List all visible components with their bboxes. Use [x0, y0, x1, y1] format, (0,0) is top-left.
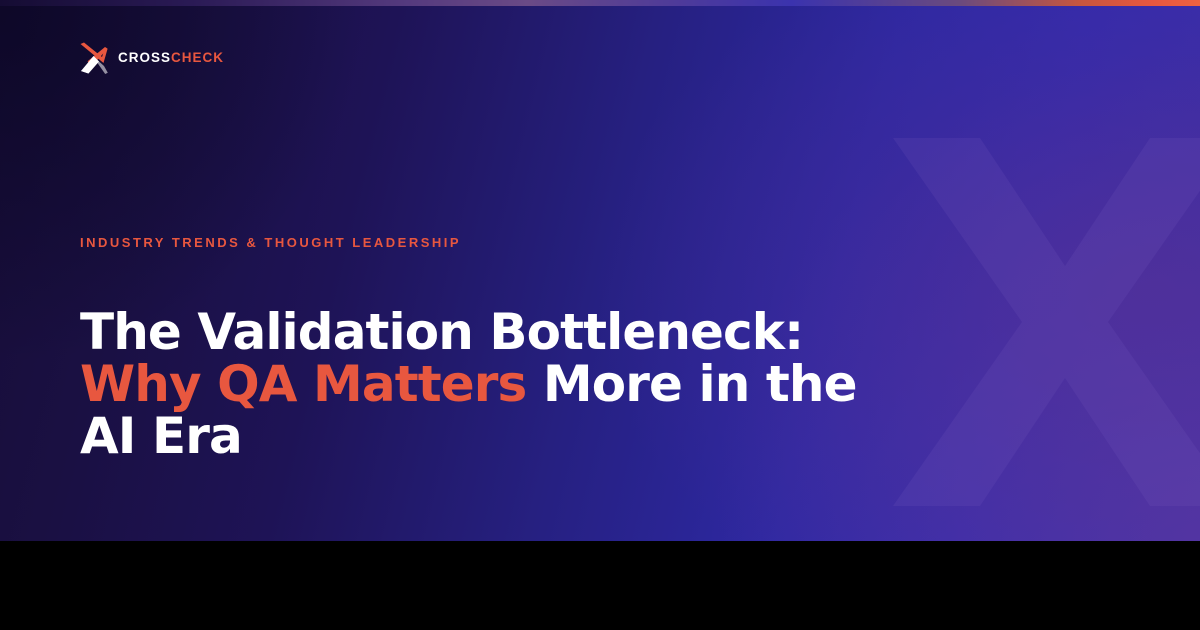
- headline-segment-2-accent: Why QA Matters: [80, 355, 526, 413]
- crosscheck-x-mark-icon: [79, 41, 109, 75]
- category-eyebrow: Industry Trends & Thought Leadership: [80, 236, 461, 249]
- page-title: The Validation Bottleneck: Why QA Matter…: [80, 306, 870, 462]
- wordmark-check: CHECK: [171, 50, 224, 65]
- headline-segment-1: The Validation Bottleneck:: [80, 303, 803, 361]
- bottom-black-band: [0, 541, 1200, 630]
- wordmark-cross: CROSS: [118, 50, 171, 65]
- hero-background: CROSSCHECK Industry Trends & Thought Lea…: [0, 0, 1200, 541]
- hero-banner-canvas: CROSSCHECK Industry Trends & Thought Lea…: [0, 0, 1200, 630]
- brand-wordmark: CROSSCHECK: [118, 51, 224, 65]
- large-x-watermark-icon: [880, 138, 1200, 506]
- brand-logo[interactable]: CROSSCHECK: [79, 40, 224, 76]
- top-accent-strip: [0, 0, 1200, 6]
